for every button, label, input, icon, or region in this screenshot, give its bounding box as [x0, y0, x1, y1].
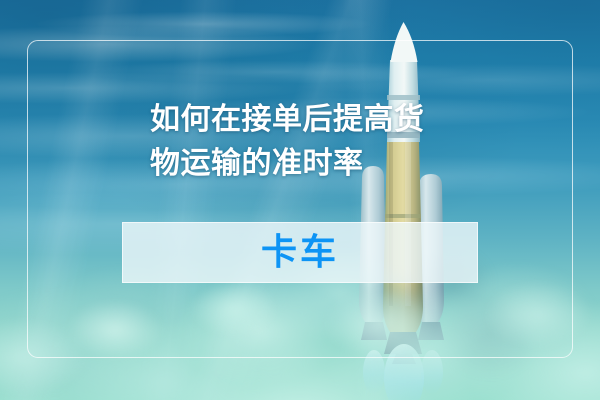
subtitle-bar: 卡车 — [122, 222, 478, 283]
subtitle-text: 卡车 — [261, 234, 339, 270]
banner-image: 如何在接单后提高货 物运输的准时率 卡车 — [0, 0, 600, 400]
exhaust-smoke-highlights — [0, 270, 600, 400]
page-title: 如何在接单后提高货 物运输的准时率 — [150, 98, 480, 186]
